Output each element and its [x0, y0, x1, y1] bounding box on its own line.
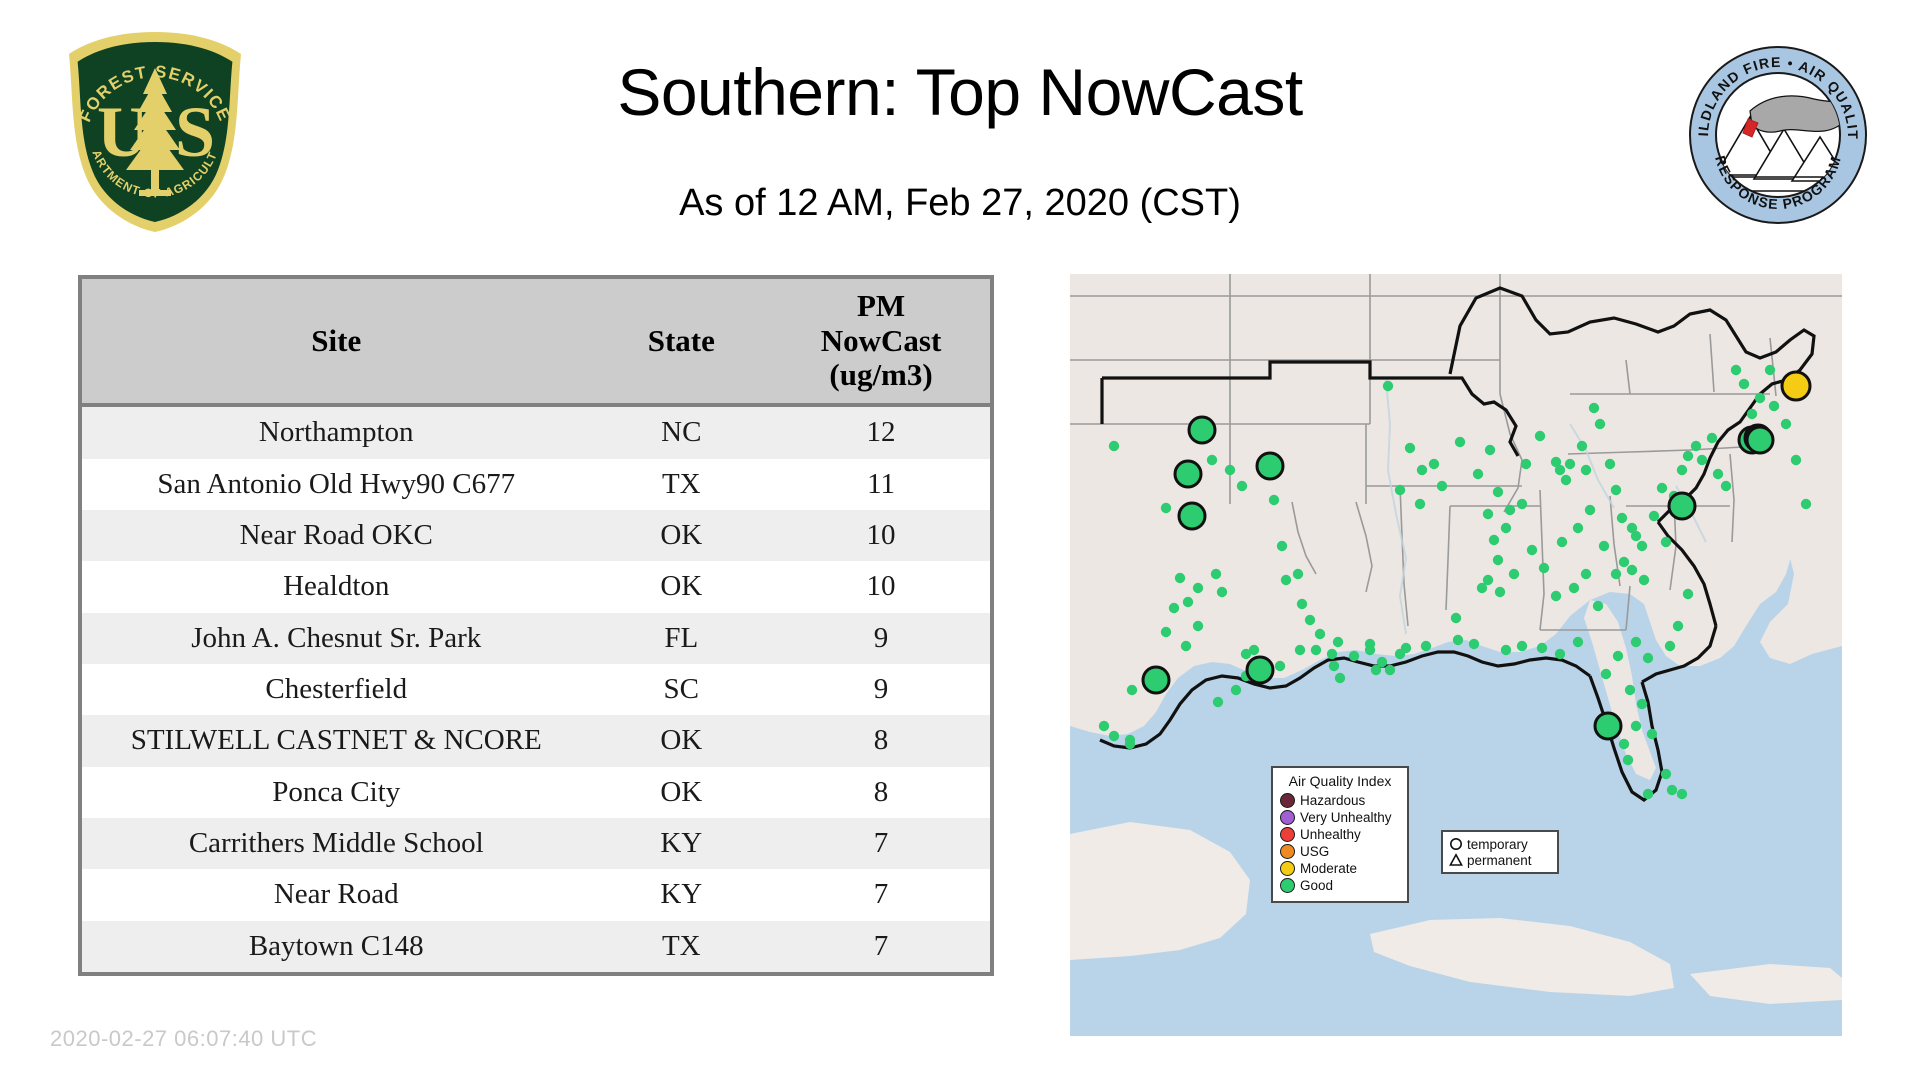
- aqi-good-dot: [1161, 503, 1171, 513]
- aqi-good-dot: [1581, 465, 1591, 475]
- aqi-good-dot: [1495, 587, 1505, 597]
- aqi-good-dot: [1593, 601, 1603, 611]
- column-header-pm-nowcast[interactable]: PM NowCast (ug/m3): [772, 279, 990, 405]
- aqi-good-dot: [1589, 403, 1599, 413]
- table-row[interactable]: Near RoadKY7: [82, 869, 990, 920]
- aqi-top-site-marker[interactable]: [1247, 657, 1273, 683]
- aqi-good-dot: [1327, 649, 1337, 659]
- site-cell: Carrithers Middle School: [82, 818, 590, 869]
- state-cell: OK: [590, 561, 772, 612]
- aqi-good-dot: [1451, 613, 1461, 623]
- aqi-good-dot: [1551, 591, 1561, 601]
- pm-cell: 10: [772, 510, 990, 561]
- aqi-good-dot: [1555, 465, 1565, 475]
- aqi-legend-swatch: [1280, 861, 1295, 876]
- aqi-good-dot: [1217, 587, 1227, 597]
- aqi-top-site-marker[interactable]: [1669, 493, 1695, 519]
- aqi-good-dot: [1721, 481, 1731, 491]
- aqi-good-dot: [1231, 685, 1241, 695]
- aqi-good-dot: [1555, 649, 1565, 659]
- marker-legend-label-permanent: permanent: [1467, 853, 1532, 868]
- aqi-good-dot: [1517, 499, 1527, 509]
- site-cell: Baytown C148: [82, 921, 590, 972]
- aqi-legend-label: Hazardous: [1300, 793, 1365, 808]
- aqi-good-dot: [1415, 499, 1425, 509]
- aqi-good-dot: [1125, 739, 1135, 749]
- aqi-good-dot: [1371, 665, 1381, 675]
- aqi-good-dot: [1521, 459, 1531, 469]
- aqi-good-dot: [1577, 441, 1587, 451]
- aqi-good-dot: [1483, 509, 1493, 519]
- aqi-good-dot: [1619, 739, 1629, 749]
- aqi-good-dot: [1501, 523, 1511, 533]
- timestamp-watermark: 2020-02-27 06:07:40 UTC: [50, 1026, 317, 1052]
- state-cell: KY: [590, 869, 772, 920]
- triangle-marker-icon: [1449, 853, 1463, 867]
- aqi-good-dot: [1401, 643, 1411, 653]
- table-row[interactable]: STILWELL CASTNET & NCOREOK8: [82, 715, 990, 766]
- aqi-good-dot: [1707, 433, 1717, 443]
- aqi-good-dot: [1169, 603, 1179, 613]
- site-cell: Ponca City: [82, 767, 590, 818]
- pm-cell: 9: [772, 613, 990, 664]
- aqi-good-dot: [1755, 393, 1765, 403]
- table-row[interactable]: Carrithers Middle SchoolKY7: [82, 818, 990, 869]
- aqi-good-dot: [1657, 483, 1667, 493]
- aqi-good-dot: [1485, 445, 1495, 455]
- aqi-good-dot: [1329, 661, 1339, 671]
- pm-header-line2: NowCast: [821, 323, 942, 358]
- aqi-legend-item: Very Unhealthy: [1280, 809, 1400, 826]
- aqi-good-dot: [1453, 635, 1463, 645]
- aqi-good-dot: [1109, 731, 1119, 741]
- aqi-good-dot: [1295, 645, 1305, 655]
- aqi-good-dot: [1385, 665, 1395, 675]
- table-header: Site State PM NowCast (ug/m3): [82, 279, 990, 405]
- aqi-good-dot: [1275, 661, 1285, 671]
- aqi-top-site-marker[interactable]: [1189, 417, 1215, 443]
- aqi-legend-swatch: [1280, 810, 1295, 825]
- aqi-legend-item: Unhealthy: [1280, 826, 1400, 843]
- marker-legend-permanent: permanent: [1449, 852, 1551, 868]
- aqi-legend-item: Good: [1280, 877, 1400, 894]
- state-cell: KY: [590, 818, 772, 869]
- aqi-good-dot: [1601, 669, 1611, 679]
- table-body: NorthamptonNC12San Antonio Old Hwy90 C67…: [82, 405, 990, 972]
- aqi-good-dot: [1277, 541, 1287, 551]
- aqi-good-dot: [1731, 365, 1741, 375]
- aqi-legend-swatch: [1280, 844, 1295, 859]
- aqi-top-site-marker[interactable]: [1175, 461, 1201, 487]
- aqi-good-dot: [1429, 459, 1439, 469]
- site-cell: Chesterfield: [82, 664, 590, 715]
- aqi-legend-label: USG: [1300, 844, 1329, 859]
- aqi-good-dot: [1599, 541, 1609, 551]
- aqi-good-dot: [1383, 381, 1393, 391]
- aqi-good-dot: [1673, 621, 1683, 631]
- aqi-good-dot: [1161, 627, 1171, 637]
- top-nowcast-table-container: Site State PM NowCast (ug/m3) Northampto…: [78, 275, 994, 976]
- aqi-good-dot: [1365, 639, 1375, 649]
- aqi-legend-item: USG: [1280, 843, 1400, 860]
- pm-header-line1: PM: [857, 288, 905, 323]
- page-title: Southern: Top NowCast: [0, 58, 1920, 127]
- aqi-good-dot: [1281, 575, 1291, 585]
- aqi-good-dot: [1333, 637, 1343, 647]
- aqi-good-dot: [1213, 697, 1223, 707]
- aqi-legend: Air Quality Index HazardousVery Unhealth…: [1271, 766, 1409, 903]
- aqi-good-dot: [1311, 645, 1321, 655]
- aqi-legend-label: Very Unhealthy: [1300, 810, 1392, 825]
- aqi-legend-label: Unhealthy: [1300, 827, 1361, 842]
- aqi-good-dot: [1639, 575, 1649, 585]
- aqi-good-dot: [1269, 495, 1279, 505]
- state-cell: FL: [590, 613, 772, 664]
- site-cell: Near Road OKC: [82, 510, 590, 561]
- aqi-good-dot: [1493, 555, 1503, 565]
- aqi-good-dot: [1677, 789, 1687, 799]
- aqi-good-dot: [1297, 599, 1307, 609]
- aqi-good-dot: [1405, 443, 1415, 453]
- aqi-top-site-marker[interactable]: [1143, 667, 1169, 693]
- aqi-top-site-marker[interactable]: [1179, 503, 1205, 529]
- aqi-good-dot: [1505, 505, 1515, 515]
- aqi-good-dot: [1613, 651, 1623, 661]
- state-cell: NC: [590, 405, 772, 458]
- table-row[interactable]: San Antonio Old Hwy90 C677TX11: [82, 459, 990, 510]
- aqi-good-dot: [1175, 573, 1185, 583]
- site-cell: Near Road: [82, 869, 590, 920]
- pm-cell: 9: [772, 664, 990, 715]
- aqi-good-dot: [1305, 615, 1315, 625]
- pm-cell: 7: [772, 921, 990, 972]
- aqi-good-dot: [1437, 481, 1447, 491]
- state-cell: OK: [590, 715, 772, 766]
- aqi-good-dot: [1527, 545, 1537, 555]
- aqi-good-dot: [1489, 535, 1499, 545]
- aqi-good-dot: [1625, 685, 1635, 695]
- aqi-good-dot: [1501, 645, 1511, 655]
- aqi-good-dot: [1665, 641, 1675, 651]
- aqi-good-dot: [1561, 475, 1571, 485]
- aqi-good-dot: [1349, 651, 1359, 661]
- aqi-good-dot: [1661, 537, 1671, 547]
- aqi-good-dot: [1335, 673, 1345, 683]
- aqi-legend-rows: HazardousVery UnhealthyUnhealthyUSGModer…: [1280, 792, 1400, 894]
- table-row[interactable]: Baytown C148TX7: [82, 921, 990, 972]
- state-cell: TX: [590, 459, 772, 510]
- marker-legend-temporary: temporary: [1449, 836, 1551, 852]
- aqi-good-dot: [1417, 465, 1427, 475]
- aqi-legend-label: Moderate: [1300, 861, 1357, 876]
- aqi-good-dot: [1109, 441, 1119, 451]
- aqi-good-dot: [1225, 465, 1235, 475]
- aqi-good-dot: [1691, 441, 1701, 451]
- marker-legend-label-temporary: temporary: [1467, 837, 1528, 852]
- site-cell: Healdton: [82, 561, 590, 612]
- site-cell: Northampton: [82, 405, 590, 458]
- aqi-good-dot: [1237, 481, 1247, 491]
- aqi-top-site-marker[interactable]: [1747, 427, 1773, 453]
- aqi-good-dot: [1539, 563, 1549, 573]
- aqi-good-dot: [1617, 513, 1627, 523]
- aqi-legend-label: Good: [1300, 878, 1333, 893]
- pm-header-line3: (ug/m3): [829, 357, 932, 392]
- aqi-good-dot: [1207, 455, 1217, 465]
- aqi-good-dot: [1801, 499, 1811, 509]
- aqi-good-dot: [1565, 459, 1575, 469]
- aqi-good-dot: [1643, 789, 1653, 799]
- aqi-good-dot: [1455, 437, 1465, 447]
- aqi-good-dot: [1623, 755, 1633, 765]
- aqi-legend-title: Air Quality Index: [1280, 773, 1400, 789]
- aqi-good-dot: [1611, 485, 1621, 495]
- table-row[interactable]: NorthamptonNC12: [82, 405, 990, 458]
- table-row[interactable]: Ponca CityOK8: [82, 767, 990, 818]
- aqi-good-dot: [1127, 685, 1137, 695]
- aqi-top-site-marker[interactable]: [1595, 713, 1621, 739]
- site-cell: John A. Chesnut Sr. Park: [82, 613, 590, 664]
- aqi-good-dot: [1183, 597, 1193, 607]
- aqi-good-dot: [1315, 629, 1325, 639]
- aqi-good-dot: [1581, 569, 1591, 579]
- aqi-good-dot: [1791, 455, 1801, 465]
- circle-marker-icon: [1449, 837, 1463, 851]
- aqi-good-dot: [1765, 365, 1775, 375]
- aqi-good-dot: [1473, 469, 1483, 479]
- aqi-good-dot: [1683, 451, 1693, 461]
- state-cell: OK: [590, 767, 772, 818]
- table-row[interactable]: John A. Chesnut Sr. ParkFL9: [82, 613, 990, 664]
- page-subtitle: As of 12 AM, Feb 27, 2020 (CST): [0, 182, 1920, 225]
- pm-cell: 8: [772, 767, 990, 818]
- table-row[interactable]: Near Road OKCOK10: [82, 510, 990, 561]
- pm-cell: 12: [772, 405, 990, 458]
- top-nowcast-table: Site State PM NowCast (ug/m3) Northampto…: [82, 279, 990, 972]
- aqi-good-dot: [1469, 639, 1479, 649]
- pm-cell: 11: [772, 459, 990, 510]
- aqi-top-site-marker[interactable]: [1257, 453, 1283, 479]
- aqi-good-dot: [1683, 589, 1693, 599]
- aqi-good-dot: [1395, 485, 1405, 495]
- aqi-good-dot: [1193, 621, 1203, 631]
- aqi-good-dot: [1661, 769, 1671, 779]
- aqi-good-dot: [1631, 637, 1641, 647]
- pm-cell: 8: [772, 715, 990, 766]
- pm-cell: 7: [772, 818, 990, 869]
- pm-cell: 10: [772, 561, 990, 612]
- aqi-good-dot: [1627, 565, 1637, 575]
- aqi-good-dot: [1573, 637, 1583, 647]
- aqi-good-dot: [1611, 569, 1621, 579]
- aqi-good-dot: [1493, 487, 1503, 497]
- aqi-good-dot: [1573, 523, 1583, 533]
- aqi-legend-swatch: [1280, 793, 1295, 808]
- aqi-good-dot: [1647, 729, 1657, 739]
- state-cell: TX: [590, 921, 772, 972]
- aqi-good-dot: [1569, 583, 1579, 593]
- aqi-good-dot: [1557, 537, 1567, 547]
- aqi-good-dot: [1537, 643, 1547, 653]
- aqi-good-dot: [1595, 419, 1605, 429]
- aqi-good-dot: [1509, 569, 1519, 579]
- aqi-good-dot: [1181, 641, 1191, 651]
- aqi-good-dot: [1099, 721, 1109, 731]
- aqi-good-dot: [1631, 721, 1641, 731]
- aqi-good-dot: [1211, 569, 1221, 579]
- aqi-good-dot: [1649, 511, 1659, 521]
- aqi-good-dot: [1631, 531, 1641, 541]
- aqi-good-dot: [1697, 455, 1707, 465]
- aqi-good-dot: [1605, 459, 1615, 469]
- aqi-good-dot: [1585, 505, 1595, 515]
- aqi-good-dot: [1619, 557, 1629, 567]
- aqi-legend-item: Hazardous: [1280, 792, 1400, 809]
- aqi-legend-swatch: [1280, 827, 1295, 842]
- aqi-good-dot: [1713, 469, 1723, 479]
- column-header-state[interactable]: State: [590, 279, 772, 405]
- table-row[interactable]: ChesterfieldSC9: [82, 664, 990, 715]
- aqi-legend-swatch: [1280, 878, 1295, 893]
- aqi-good-dot: [1781, 419, 1791, 429]
- aqi-good-dot: [1677, 465, 1687, 475]
- aqi-good-dot: [1477, 583, 1487, 593]
- aqi-good-dot: [1193, 583, 1203, 593]
- aqi-good-dot: [1667, 785, 1677, 795]
- marker-type-legend: temporary permanent: [1441, 830, 1559, 874]
- aqi-good-dot: [1643, 653, 1653, 663]
- aqi-legend-item: Moderate: [1280, 860, 1400, 877]
- aqi-good-dot: [1637, 541, 1647, 551]
- aqi-good-dot: [1769, 401, 1779, 411]
- aqi-good-dot: [1747, 409, 1757, 419]
- aqi-good-dot: [1637, 699, 1647, 709]
- state-cell: OK: [590, 510, 772, 561]
- aqi-good-dot: [1421, 641, 1431, 651]
- table-row[interactable]: HealdtonOK10: [82, 561, 990, 612]
- aqi-good-dot: [1517, 641, 1527, 651]
- column-header-site[interactable]: Site: [82, 279, 590, 405]
- state-cell: SC: [590, 664, 772, 715]
- aqi-good-dot: [1535, 431, 1545, 441]
- site-cell: San Antonio Old Hwy90 C677: [82, 459, 590, 510]
- aqi-moderate-site-marker[interactable]: [1782, 372, 1810, 400]
- aqi-good-dot: [1293, 569, 1303, 579]
- pm-cell: 7: [772, 869, 990, 920]
- table-header-row: Site State PM NowCast (ug/m3): [82, 279, 990, 405]
- southern-region-aqi-map[interactable]: Air Quality Index HazardousVery Unhealth…: [1070, 274, 1842, 1036]
- aqi-good-dot: [1739, 379, 1749, 389]
- site-cell: STILWELL CASTNET & NCORE: [82, 715, 590, 766]
- aqi-good-dot: [1249, 645, 1259, 655]
